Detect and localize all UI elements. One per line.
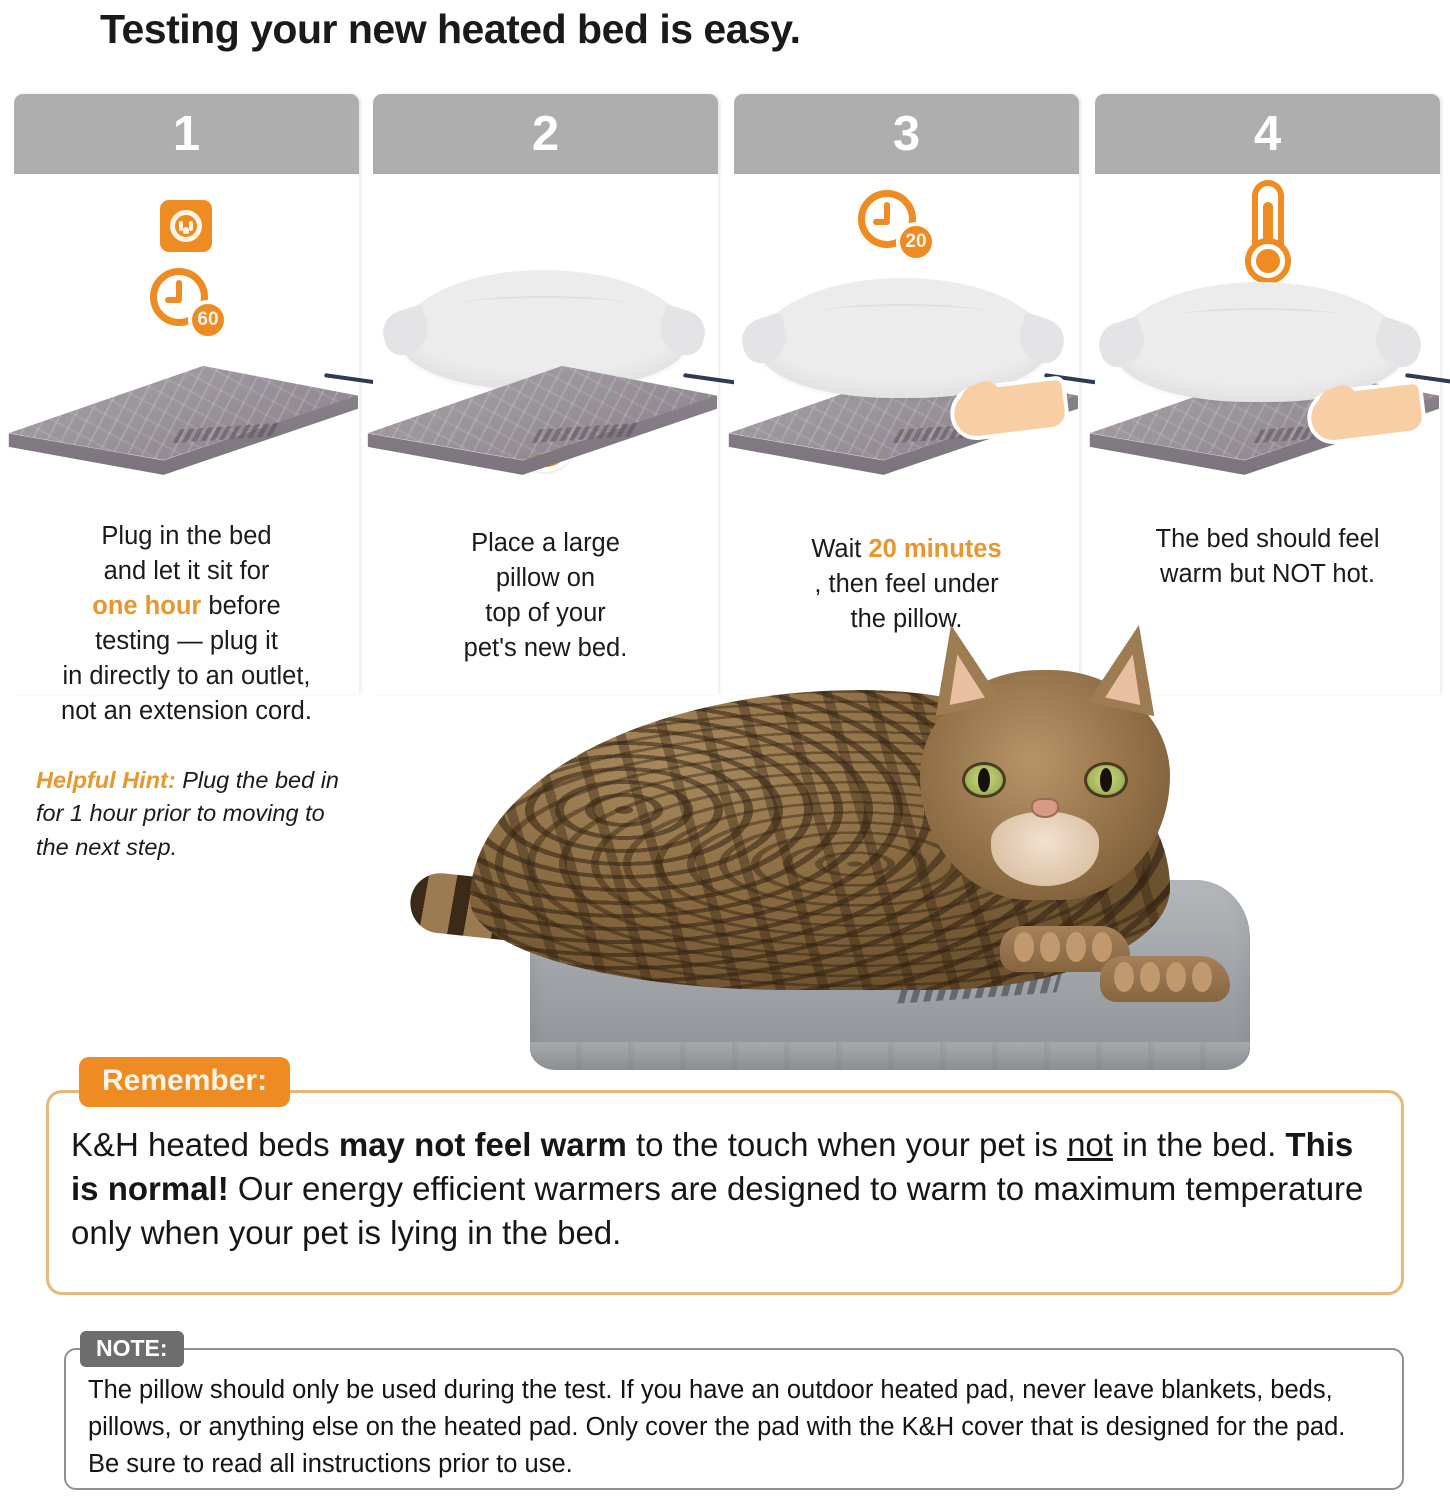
caption-line: warm but NOT hot. bbox=[1160, 560, 1375, 588]
step-panel-2: 2 bbox=[373, 94, 718, 694]
step-2-illustration bbox=[373, 174, 718, 514]
caption-line: The bed should feel bbox=[1156, 525, 1380, 553]
instruction-sheet: Testing your new heated bed is easy. 1 bbox=[0, 0, 1450, 1500]
page-title: Testing your new heated bed is easy. bbox=[100, 6, 800, 53]
clock-20-icon: 20 bbox=[858, 190, 936, 262]
heated-pad-illustration-1 bbox=[0, 364, 358, 476]
caption-line: and let it sit for bbox=[104, 557, 270, 585]
heated-pad-illustration-2 bbox=[357, 364, 717, 476]
clock-badge-60: 60 bbox=[188, 300, 228, 340]
step-panel-4: 4 bbox=[1095, 94, 1440, 694]
thermometer-icon bbox=[1235, 180, 1301, 292]
note-callout: NOTE: The pillow should only be used dur… bbox=[64, 1348, 1404, 1490]
hint-label: Helpful Hint: bbox=[36, 767, 176, 793]
pillow-illustration-3 bbox=[758, 278, 1048, 398]
cat-on-bed-photo bbox=[400, 630, 1400, 1100]
remember-text-c: in the bed. bbox=[1122, 1126, 1285, 1163]
caption-line: Plug in the bed bbox=[101, 522, 271, 550]
caption-highlight: one hour bbox=[92, 592, 201, 620]
step-body-4: The bed should feel warm but NOT hot. bbox=[1095, 174, 1440, 694]
caption-line: not an extension cord. bbox=[61, 697, 312, 725]
cat-eye-left bbox=[962, 762, 1006, 798]
step-body-2: Place a large pillow on top of your pet'… bbox=[373, 174, 718, 694]
pillow-illustration-4 bbox=[1115, 282, 1405, 402]
remember-tab-label: Remember: bbox=[79, 1057, 290, 1107]
note-body-text: The pillow should only be used during th… bbox=[88, 1372, 1382, 1483]
step-4-caption: The bed should feel warm but NOT hot. bbox=[1095, 522, 1440, 592]
cat-eye-right bbox=[1084, 762, 1128, 798]
clock-60-icon: 60 bbox=[150, 268, 228, 340]
step-1-helpful-hint: Helpful Hint: Plug the bed in for 1 hour… bbox=[36, 764, 345, 864]
caption-line: in directly to an outlet, bbox=[62, 662, 310, 690]
caption-highlight: 20 minutes bbox=[868, 535, 1001, 563]
caption-line: pillow on bbox=[496, 564, 595, 592]
cat-nose bbox=[1031, 798, 1059, 818]
caption-line: Place a large bbox=[471, 529, 620, 557]
caption-line: top of your bbox=[485, 599, 606, 627]
step-number-3: 3 bbox=[893, 110, 920, 159]
caption-line: , then feel under bbox=[814, 570, 998, 598]
step-panel-1: 1 60 bbox=[14, 94, 359, 694]
remember-bold-1: may not feel warm bbox=[339, 1126, 627, 1163]
caption-line: Wait bbox=[811, 535, 868, 563]
step-4-illustration bbox=[1095, 174, 1440, 514]
cat-front-paw-right bbox=[1100, 956, 1230, 1002]
remember-callout: Remember: K&H heated beds may not feel w… bbox=[46, 1090, 1404, 1295]
caption-line: testing — plug it bbox=[95, 627, 278, 655]
step-number-2: 2 bbox=[532, 110, 559, 159]
step-number-1: 1 bbox=[173, 110, 200, 159]
steps-row: 1 60 bbox=[0, 94, 1450, 694]
step-1-illustration: 60 bbox=[14, 174, 359, 514]
caption-line: before bbox=[201, 592, 280, 620]
step-header-4: 4 bbox=[1095, 94, 1440, 174]
step-3-caption: Wait 20 minutes , then feel under the pi… bbox=[734, 532, 1079, 637]
note-tab-label: NOTE: bbox=[80, 1331, 184, 1367]
step-header-3: 3 bbox=[734, 94, 1079, 174]
step-1-caption: Plug in the bed and let it sit for one h… bbox=[14, 519, 359, 729]
step-header-1: 1 bbox=[14, 94, 359, 174]
step-header-2: 2 bbox=[373, 94, 718, 174]
step-number-4: 4 bbox=[1254, 110, 1281, 159]
remember-text-d: Our energy efficient warmers are designe… bbox=[71, 1170, 1363, 1251]
bed-welt bbox=[530, 1042, 1250, 1070]
step-body-3: 20 W bbox=[734, 174, 1079, 694]
remember-text-a: K&H heated beds bbox=[71, 1126, 339, 1163]
clock-badge-20: 20 bbox=[896, 222, 936, 262]
remember-underline: not bbox=[1067, 1126, 1113, 1163]
step-panel-3: 3 20 bbox=[734, 94, 1079, 694]
cat-muzzle bbox=[991, 812, 1099, 886]
cat-head bbox=[920, 670, 1170, 900]
remember-body-text: K&H heated beds may not feel warm to the… bbox=[71, 1123, 1379, 1255]
step-3-illustration: 20 bbox=[734, 174, 1079, 514]
outlet-icon bbox=[160, 200, 212, 252]
remember-text-b: to the touch when your pet is bbox=[627, 1126, 1067, 1163]
step-body-1: 60 Plug in the bed and let it sit for on… bbox=[14, 174, 359, 694]
